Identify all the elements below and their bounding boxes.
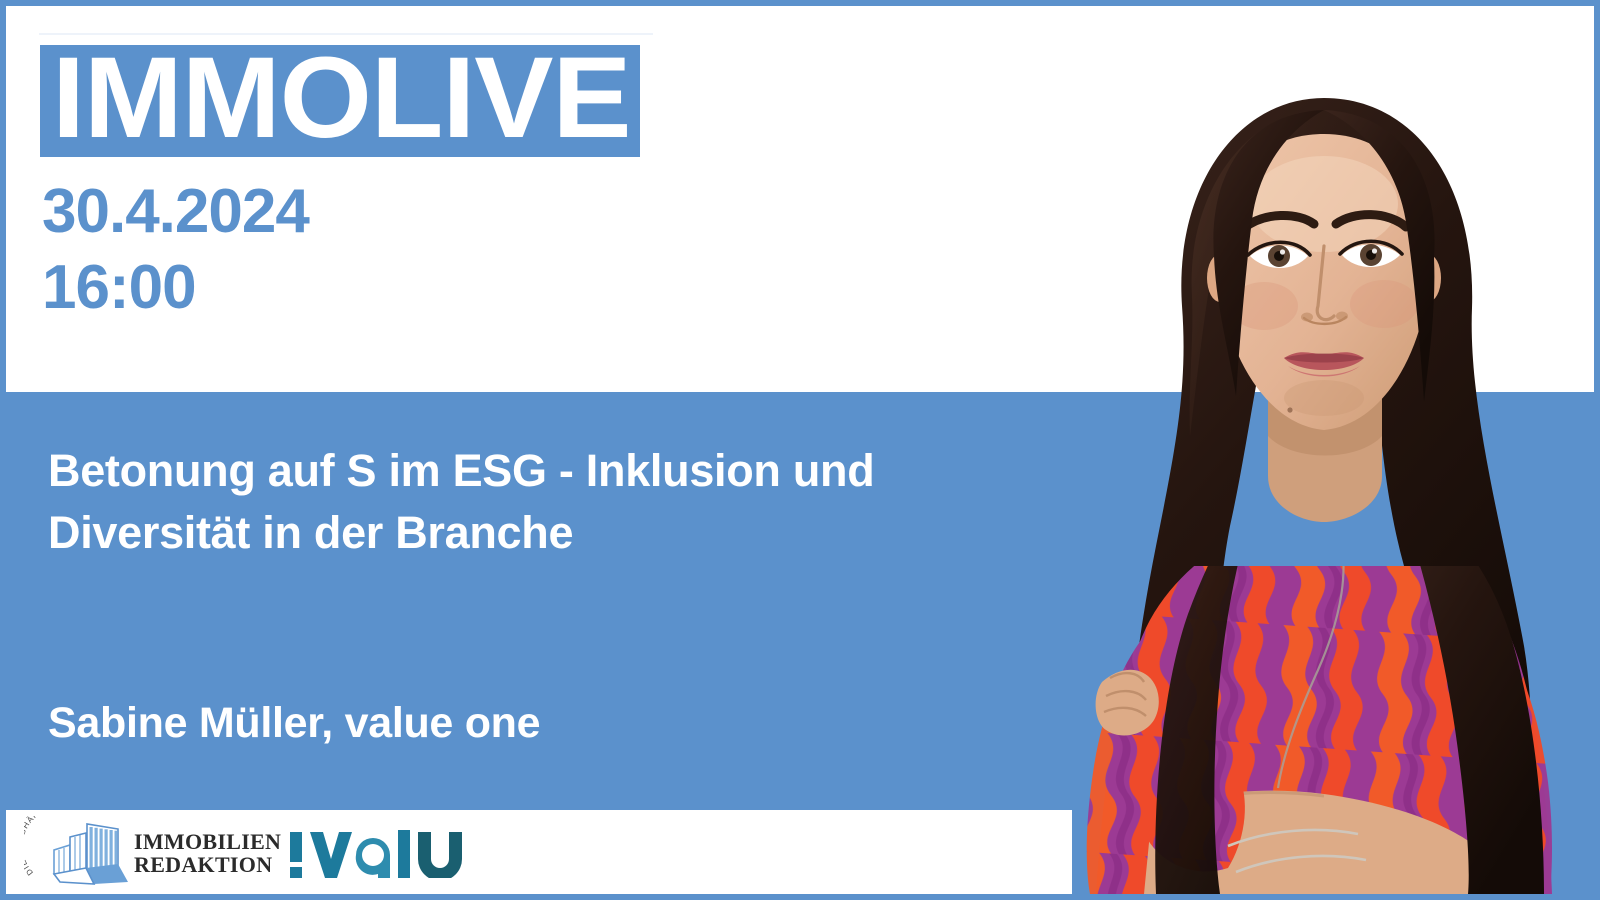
immobilien-redaktion-wordmark: IMMOBILIEN REDAKTION [134, 830, 281, 876]
header-hairline [39, 33, 653, 35]
immobilien-redaktion-logo: DIE UNABHÄNGIGE [24, 816, 259, 888]
event-date: 30.4.2024 [42, 174, 309, 250]
speaker-portrait [1032, 6, 1594, 894]
ir-line2: REDAKTION [134, 853, 281, 876]
speaker-name: Sabine Müller, value one [48, 697, 540, 749]
session-title-line1: Betonung auf S im ESG - Inklusion und [48, 440, 988, 502]
session-title-line2: Diversität in der Branche [48, 502, 988, 564]
ivalu-logo: ivalu [288, 826, 466, 878]
event-datetime: 30.4.2024 16:00 [42, 174, 309, 326]
speaker-portrait-image [1032, 6, 1594, 894]
poster-inner: IMMOLIVE 30.4.2024 16:00 Betonung auf S … [6, 6, 1594, 894]
building-skyline-icon [54, 824, 128, 884]
immolive-logo-text: IMMOLIVE [52, 45, 631, 156]
session-title: Betonung auf S im ESG - Inklusion und Di… [48, 440, 988, 564]
ir-line1: IMMOBILIEN [134, 830, 281, 853]
footer-logos: DIE UNABHÄNGIGE [6, 810, 1066, 894]
event-time: 16:00 [42, 250, 309, 326]
immolive-logo-box: IMMOLIVE [40, 45, 640, 157]
poster-root: IMMOLIVE 30.4.2024 16:00 Betonung auf S … [0, 0, 1600, 900]
ivalu-wordmark: ivalu [288, 826, 466, 878]
